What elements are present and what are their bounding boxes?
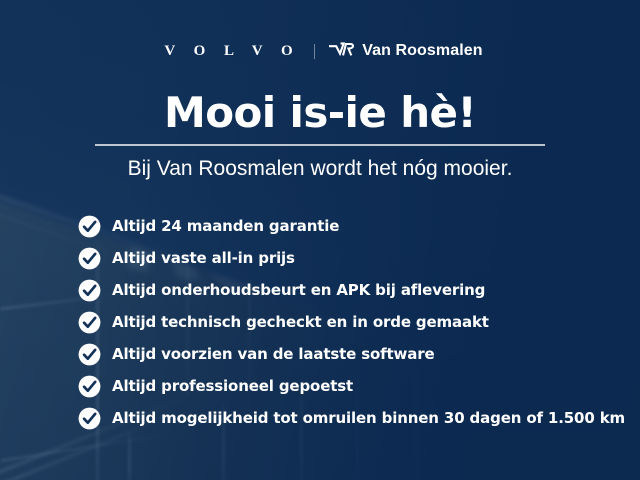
- list-item: Altijd 24 maanden garantie: [78, 215, 625, 238]
- list-item-label: Altijd technisch gecheckt en in orde gem…: [112, 313, 489, 332]
- list-item-label: Altijd vaste all-in prijs: [112, 249, 295, 268]
- list-item-label: Altijd mogelijkheid tot omruilen binnen …: [112, 409, 625, 428]
- banner-content: V O L V O Van Roosmalen Mooi is-ie hè! B…: [0, 0, 640, 480]
- list-item: Altijd professioneel gepoetst: [78, 375, 625, 398]
- divider: [95, 144, 545, 146]
- list-item: Altijd vaste all-in prijs: [78, 247, 625, 270]
- dealer-name: Van Roosmalen: [362, 42, 482, 60]
- list-item-label: Altijd professioneel gepoetst: [112, 377, 353, 396]
- benefits-list: Altijd 24 maanden garantieAltijd vaste a…: [78, 215, 625, 430]
- subtitle: Bij Van Roosmalen wordt het nóg mooier.: [0, 156, 640, 182]
- check-circle-icon: [78, 375, 101, 398]
- brand-bar: V O L V O Van Roosmalen: [0, 38, 640, 64]
- check-circle-icon: [78, 343, 101, 366]
- check-circle-icon: [78, 247, 101, 270]
- brand-separator: [314, 44, 315, 59]
- check-circle-icon: [78, 215, 101, 238]
- list-item: Altijd technisch gecheckt en in orde gem…: [78, 311, 625, 334]
- list-item: Altijd onderhoudsbeurt en APK bij afleve…: [78, 279, 625, 302]
- check-circle-icon: [78, 279, 101, 302]
- list-item: Altijd mogelijkheid tot omruilen binnen …: [78, 407, 625, 430]
- page-title: Mooi is-ie hè!: [0, 90, 640, 136]
- promo-banner: Van Roosmalen V O L V O: [0, 0, 640, 480]
- check-circle-icon: [78, 407, 101, 430]
- check-circle-icon: [78, 311, 101, 334]
- vr-monogram-icon: [329, 41, 355, 62]
- dealer-logo: Van Roosmalen: [329, 41, 482, 62]
- list-item-label: Altijd onderhoudsbeurt en APK bij afleve…: [112, 281, 485, 300]
- list-item: Altijd voorzien van de laatste software: [78, 343, 625, 366]
- list-item-label: Altijd voorzien van de laatste software: [112, 345, 435, 364]
- volvo-wordmark: V O L V O: [157, 43, 300, 60]
- list-item-label: Altijd 24 maanden garantie: [112, 217, 339, 236]
